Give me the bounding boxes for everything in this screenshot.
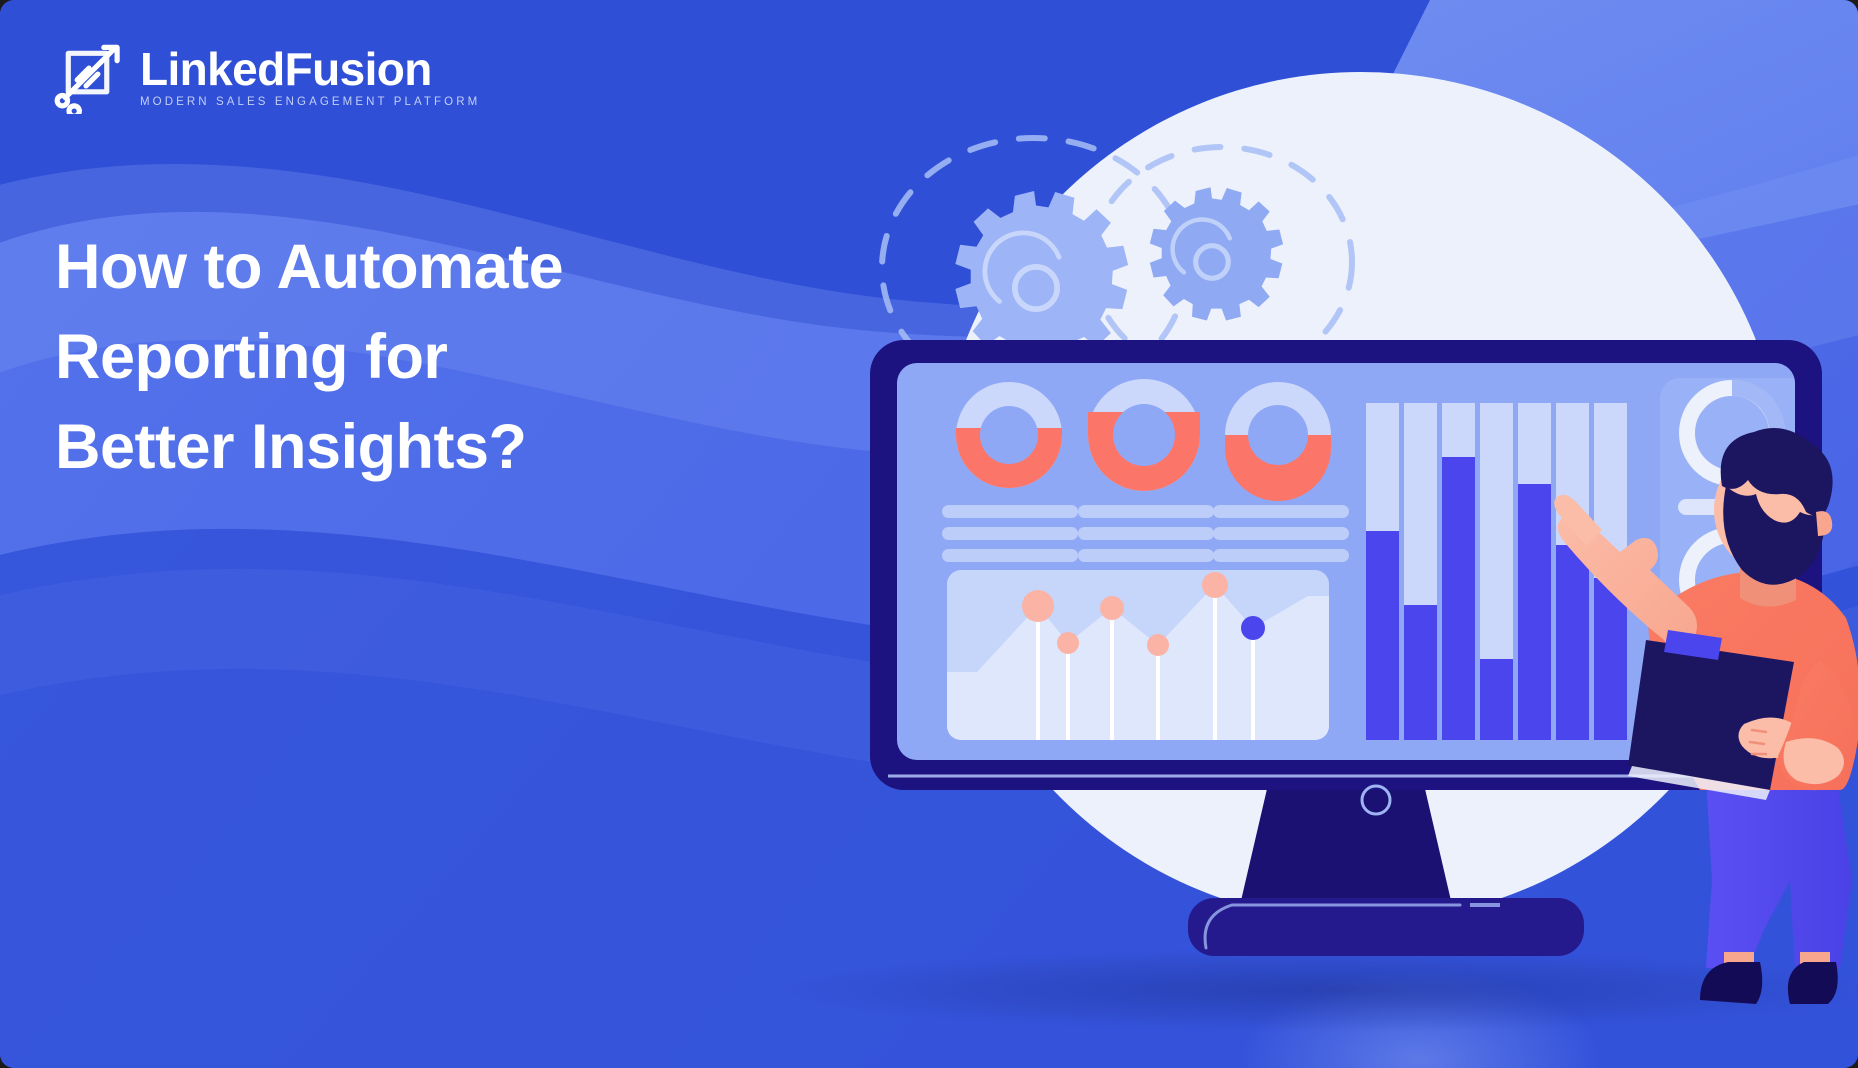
page-title: How to Automate Reporting for Better Ins… <box>55 222 795 492</box>
headline-line-1: How to Automate <box>55 222 795 312</box>
headline-line-3: Better Insights? <box>55 402 795 492</box>
person-shoe-right <box>1788 962 1838 1004</box>
clipboard-board <box>1628 640 1794 790</box>
rising-arrow-chart-icon <box>52 40 126 114</box>
person-trousers <box>1706 775 1852 968</box>
person-layer <box>0 0 1858 1068</box>
person-shoe-left <box>1700 962 1762 1004</box>
blog-banner: LinkedFusion MODERN SALES ENGAGEMENT PLA… <box>0 0 1858 1068</box>
brand-logo[interactable]: LinkedFusion MODERN SALES ENGAGEMENT PLA… <box>52 40 480 114</box>
brand-name: LinkedFusion <box>140 46 480 93</box>
person-ear <box>1816 511 1832 536</box>
headline-line-2: Reporting for <box>55 312 795 402</box>
brand-tagline: MODERN SALES ENGAGEMENT PLATFORM <box>140 96 480 108</box>
